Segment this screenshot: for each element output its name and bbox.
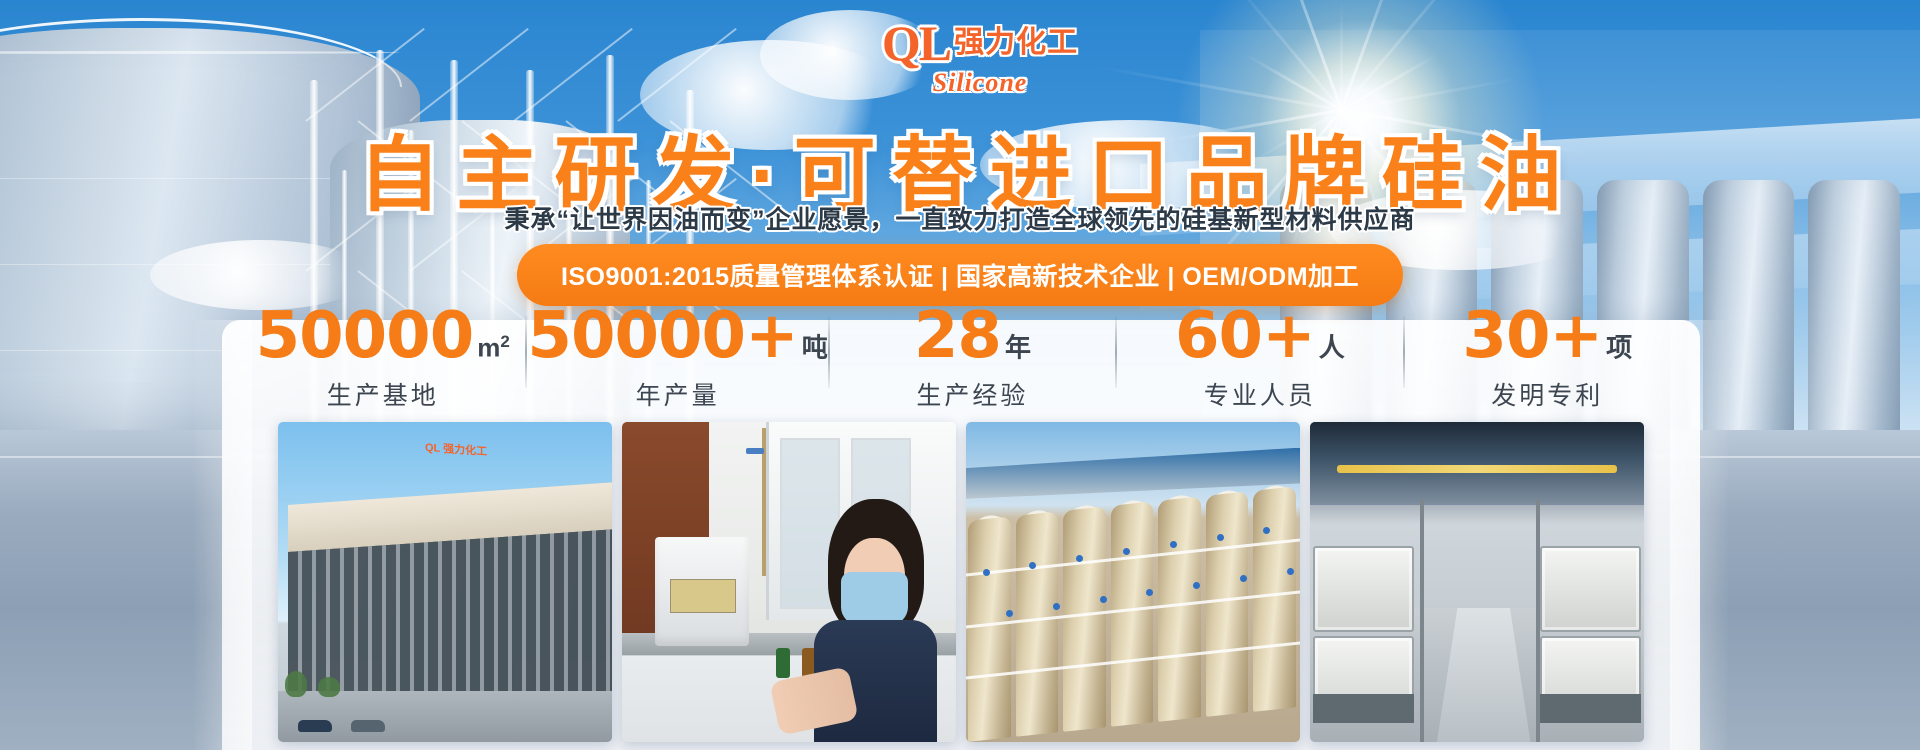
silo-valve	[1123, 548, 1130, 555]
stat-number: 60+	[1175, 304, 1315, 368]
stat-number: 50000	[256, 304, 474, 368]
stat-unit-text: 项	[1606, 333, 1632, 363]
car	[351, 720, 385, 732]
stat-unit-text: 人	[1319, 333, 1345, 363]
storage-rack	[1420, 499, 1424, 742]
hero-banner: QL 强力化工 Silicone 自主研发·可替进口品牌硅油 秉承“让世界因油而…	[0, 0, 1920, 750]
stat-unit-text: 年	[1005, 333, 1031, 363]
car	[298, 720, 332, 732]
stat-unit: 项	[1606, 333, 1632, 361]
photo-silo-farm[interactable]	[966, 422, 1300, 742]
logo-mark-ql: QL	[882, 18, 950, 68]
ibc-tote	[1540, 546, 1640, 632]
stat-experience: 28 年 生产经验	[830, 300, 1115, 412]
tree	[318, 677, 340, 697]
road	[278, 691, 612, 742]
stats-row: 50000 m2 生产基地 50000+ 吨 年产量 28 年	[240, 300, 1690, 410]
silo-valve	[1287, 568, 1294, 575]
logo-chinese-name: 强力化工	[954, 28, 1078, 58]
lab-technician	[809, 499, 943, 742]
stat-unit: 吨	[802, 333, 828, 361]
stat-label: 生产经验	[830, 376, 1115, 412]
rooftop-sign: QL 强力化工	[425, 439, 487, 459]
stat-number: 50000+	[527, 304, 797, 368]
stat-label: 专业人员	[1117, 376, 1402, 412]
stat-number: 30+	[1462, 304, 1602, 368]
stat-annual-output: 50000+ 吨 年产量	[527, 300, 827, 412]
photo-laboratory[interactable]	[622, 422, 956, 742]
stat-number: 28	[914, 304, 1001, 368]
photo-warehouse[interactable]	[1310, 422, 1644, 742]
tree	[285, 671, 307, 697]
hero-subtitle: 秉承“让世界因油而变”企业愿景，一直致力打造全球领先的硅基新型材料供应商	[0, 200, 1920, 236]
lab-clamp	[746, 448, 764, 454]
logo-subtext-silicone: Silicone	[880, 70, 1080, 96]
stat-unit: 人	[1319, 333, 1345, 361]
silo-valve	[1170, 541, 1177, 548]
stat-unit: 年	[1005, 333, 1031, 361]
stat-unit-text: m	[477, 333, 500, 363]
stat-label: 发明专利	[1405, 376, 1690, 412]
certification-badge: ISO9001:2015质量管理体系认证 | 国家高新技术企业 | OEM/OD…	[517, 244, 1403, 306]
photo-strip: QL 强力化工	[278, 422, 1644, 742]
stat-professionals: 60+ 人 专业人员	[1117, 300, 1402, 412]
silo-valve	[983, 569, 990, 576]
photo-office-building[interactable]: QL 强力化工	[278, 422, 612, 742]
stat-label: 年产量	[527, 376, 827, 412]
face-mask	[841, 572, 908, 626]
stat-unit-text: 吨	[802, 333, 828, 363]
ibc-tote	[1313, 546, 1413, 632]
stat-unit: m2	[477, 333, 510, 361]
silo-valve	[1100, 596, 1107, 603]
stat-patents: 30+ 项 发明专利	[1405, 300, 1690, 412]
reagent-bottle	[776, 648, 790, 678]
ibc-stack-left	[1313, 544, 1413, 723]
stat-label: 生产基地	[240, 376, 525, 412]
ibc-stack-right	[1540, 544, 1640, 723]
logo-primary-row: QL 强力化工	[880, 18, 1080, 68]
lab-instrument	[655, 537, 749, 646]
warehouse-ceiling	[1310, 422, 1644, 505]
silo-valve	[1217, 534, 1224, 541]
company-logo[interactable]: QL 强力化工 Silicone	[880, 18, 1080, 106]
stat-unit-superscript: 2	[500, 332, 509, 351]
stat-production-base: 50000 m2 生产基地	[240, 300, 525, 412]
